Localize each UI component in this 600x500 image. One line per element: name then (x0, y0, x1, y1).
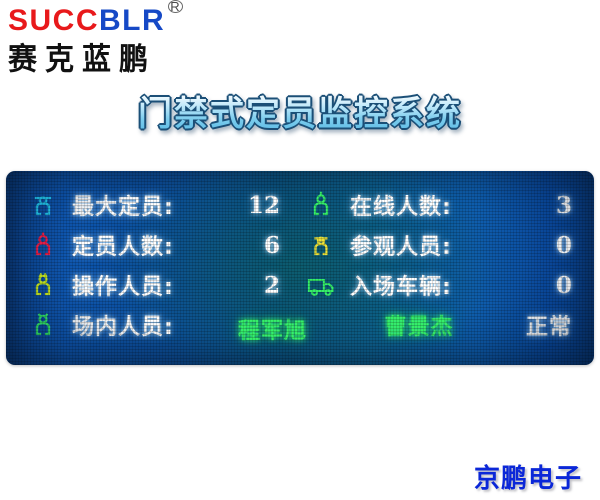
led-value-visitors: 0 (452, 232, 594, 259)
led-display-panel: 最大定员: 12 定员人数: 6 (6, 171, 594, 365)
logo-chinese-text: 赛克蓝鹏 (8, 40, 248, 78)
led-row-online-count: 在线人数: 3 (306, 187, 594, 223)
logo-blr-text: BLR (99, 4, 165, 37)
person-online-icon (306, 190, 336, 220)
led-row-operators: 操作人员: 2 (28, 267, 298, 303)
footer-company-name: 京鹏电子 (474, 458, 582, 495)
logo-latin-text: SUCCBLRR (8, 6, 248, 38)
truck-icon (306, 270, 336, 300)
status-badge: 正常 (526, 309, 594, 341)
led-value-operators: 2 (174, 272, 298, 299)
led-row-registered-count: 定员人数: 6 (28, 227, 298, 263)
company-logo: SUCCBLRR 赛克蓝鹏 (8, 6, 248, 76)
led-label-operators: 操作人员: (72, 269, 174, 301)
led-value-vehicles: 0 (452, 272, 594, 299)
led-label-max-capacity: 最大定员: (72, 189, 174, 221)
led-label-registered-count: 定员人数: (72, 229, 174, 261)
led-label-online-count: 在线人数: (350, 189, 452, 221)
led-value-registered-count: 6 (174, 232, 298, 259)
logo-succ-text: SUCC (8, 4, 99, 37)
led-row-visitors: 参观人员: 0 (306, 227, 594, 263)
person-cap-icon (28, 190, 58, 220)
led-row-max-capacity: 最大定员: 12 (28, 187, 298, 223)
led-value-max-capacity: 12 (174, 192, 298, 219)
led-value-online-count: 3 (452, 192, 594, 219)
led-label-onsite-personnel: 场内人员: (72, 309, 174, 341)
led-label-vehicles: 入场车辆: (350, 269, 452, 301)
led-row-vehicles: 入场车辆: 0 (306, 267, 594, 303)
person-visitor-icon (306, 230, 336, 260)
person-onsite-icon (28, 310, 58, 340)
page-title: 门禁式定员监控系统 (0, 93, 600, 135)
person-icon (28, 230, 58, 260)
led-onsite-name-1: 程军旭 (238, 313, 307, 345)
led-onsite-name-1-wrap: 程军旭 (238, 313, 358, 345)
registered-trademark-icon: R (168, 0, 183, 13)
person-worker-icon (28, 270, 58, 300)
led-label-visitors: 参观人员: (350, 229, 452, 261)
